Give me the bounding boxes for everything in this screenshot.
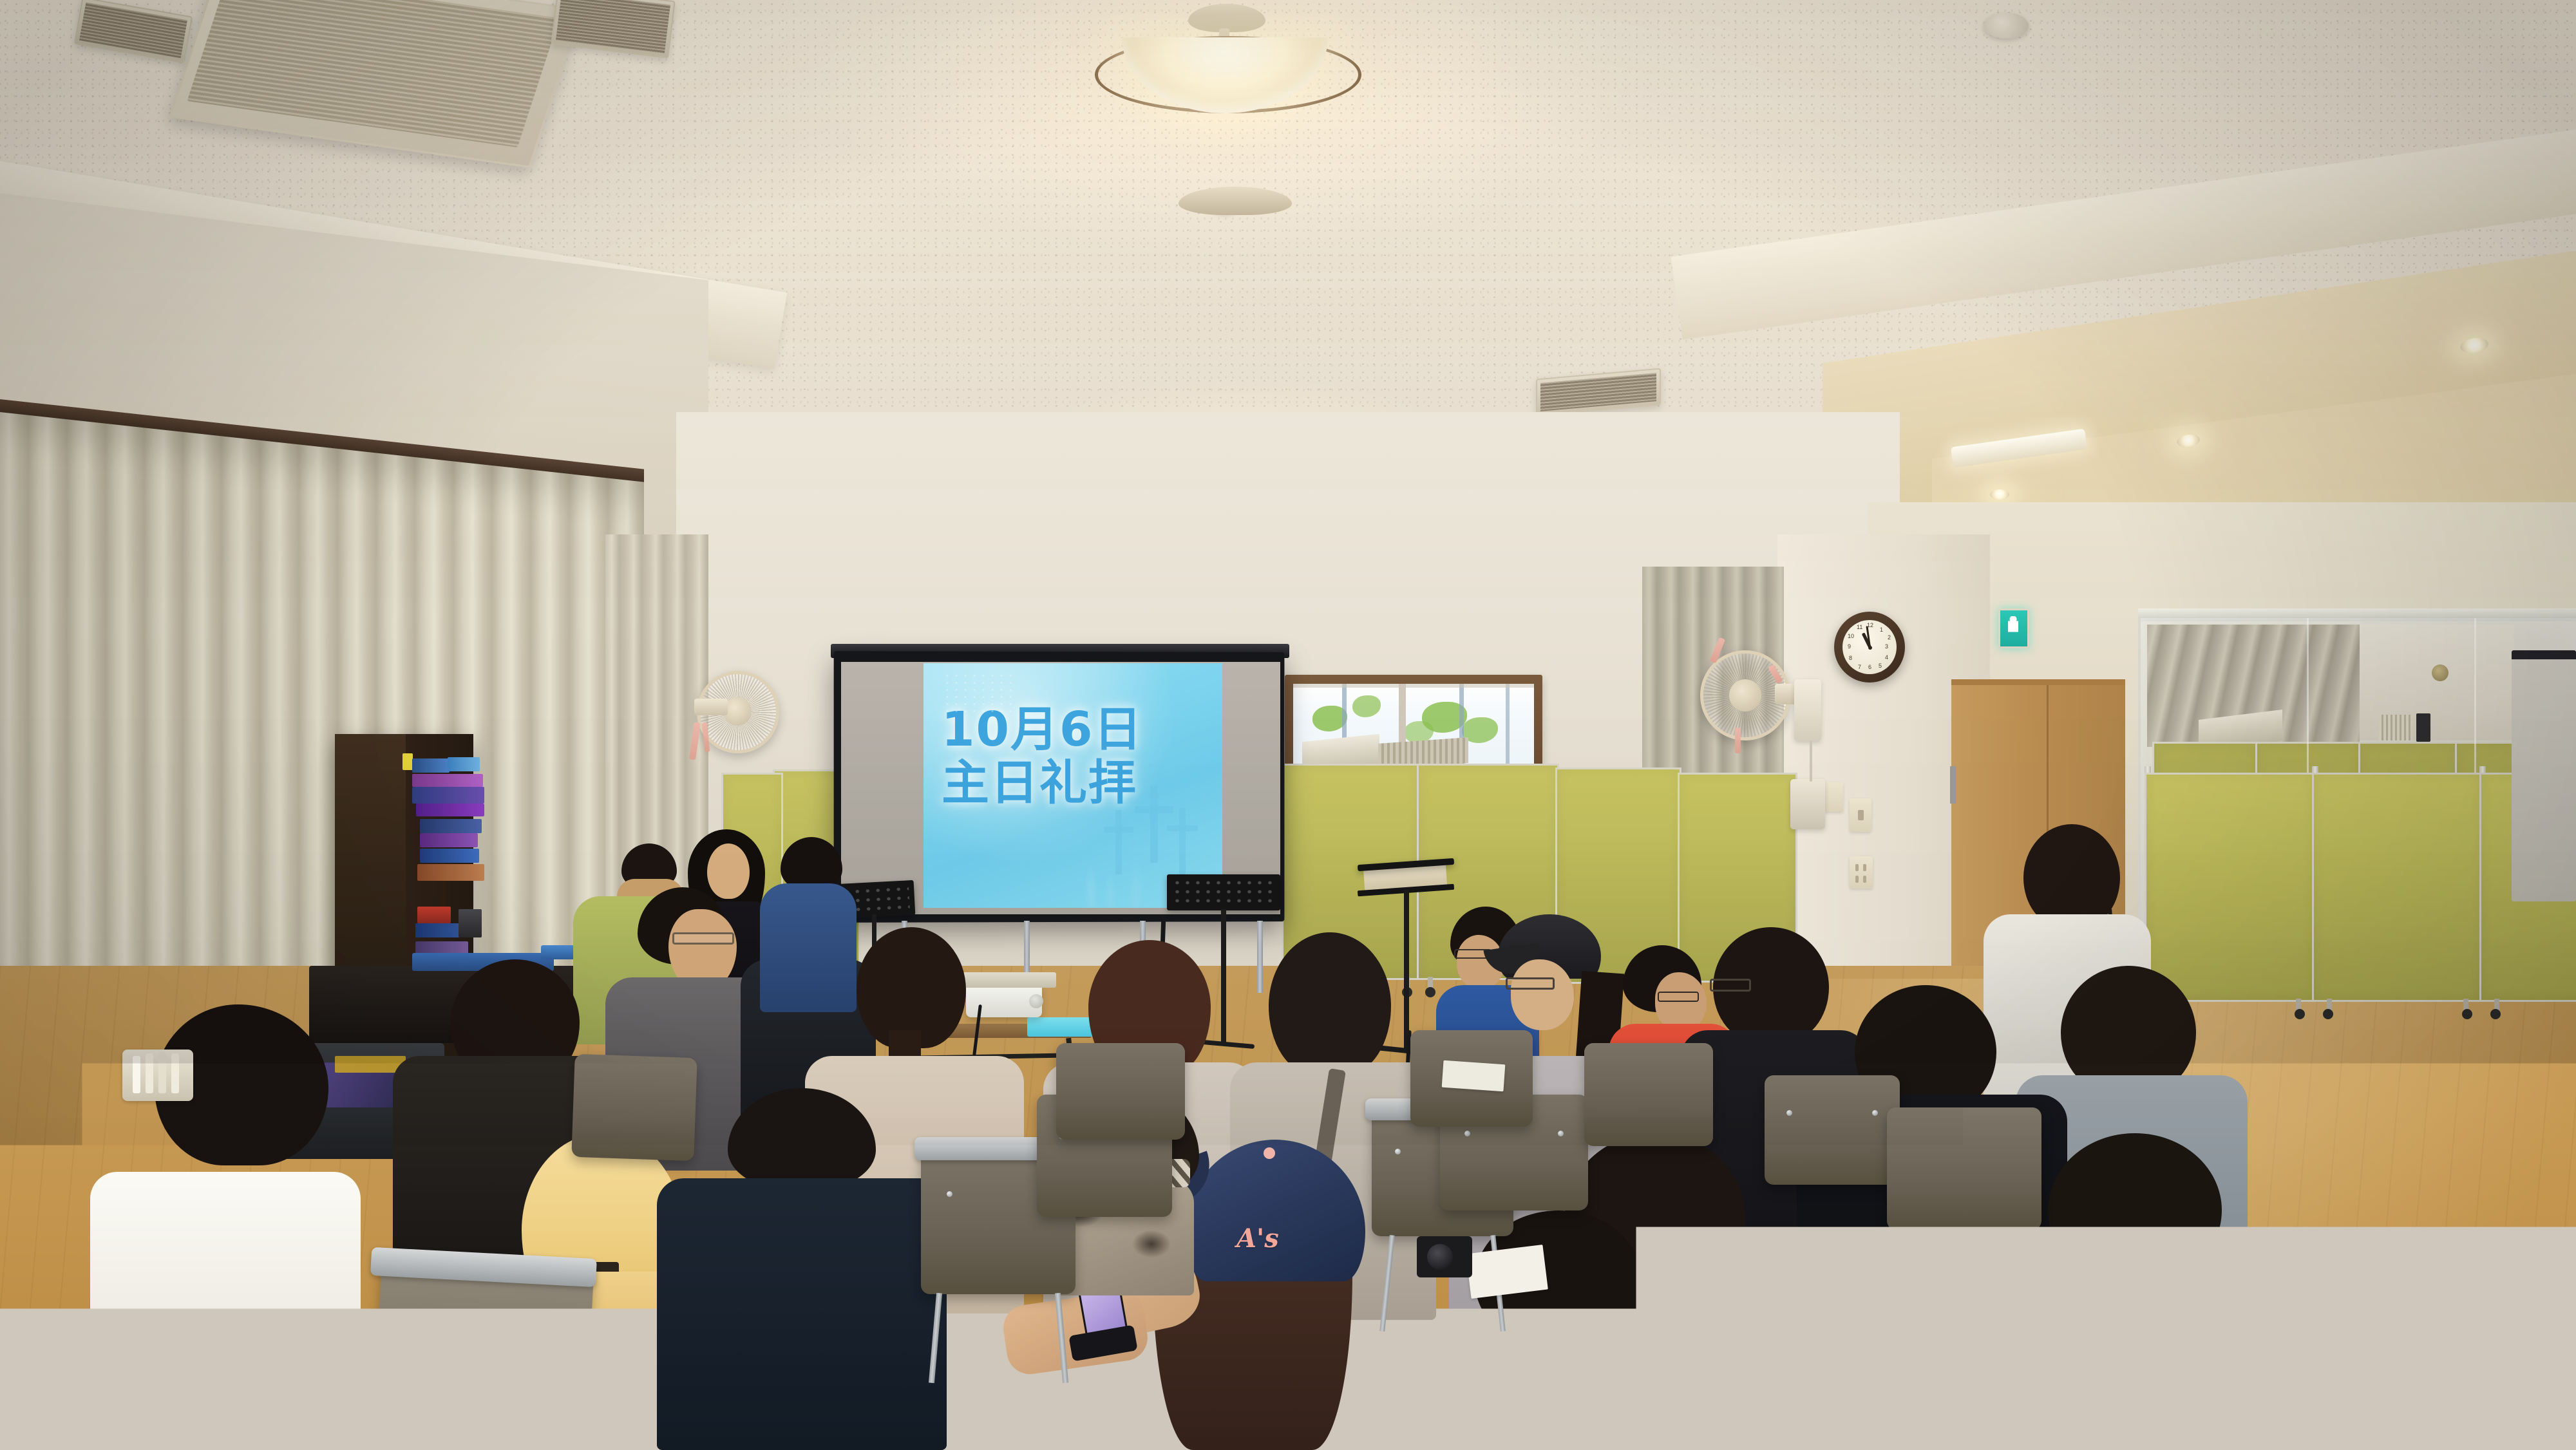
folding-chair-back[interactable] — [571, 1054, 697, 1162]
power-outlet-plate[interactable] — [1850, 856, 1873, 889]
shelf-label-tag — [402, 753, 413, 770]
chair-rail — [1642, 1320, 1887, 1350]
printed-handout[interactable] — [1466, 1245, 1548, 1299]
folding-chair-back[interactable] — [1765, 1075, 1900, 1185]
shelf-box — [420, 833, 478, 847]
fan-ribbon — [1735, 728, 1741, 753]
light-switch-plate[interactable] — [1850, 798, 1871, 832]
clock-center-pin — [1868, 646, 1872, 650]
music-stand-pole — [1404, 890, 1409, 1051]
person-hair — [2023, 824, 2120, 927]
person-hair — [2048, 1133, 2222, 1281]
secondary-projection-screen — [2512, 650, 2576, 901]
cap-button — [1264, 1147, 1275, 1159]
wall-telephone[interactable] — [1790, 779, 1825, 829]
printed-handout[interactable] — [1442, 1060, 1506, 1092]
partition-panel — [2145, 773, 2316, 1002]
shelf-box — [420, 819, 482, 833]
cap-logo-text: A's — [1236, 1223, 1279, 1254]
shelf-box — [412, 787, 484, 804]
room-photo-scene: 12 3 6 9 1 2 4 5 7 8 10 11 — [0, 0, 2576, 1450]
wall-intercom[interactable] — [1794, 679, 1821, 741]
person-torso-navy — [657, 1178, 947, 1450]
person-hair — [2273, 1313, 2428, 1450]
folding-chair-back[interactable] — [1056, 1043, 1185, 1140]
partition-panel — [2312, 773, 2483, 1002]
intercom-plate[interactable] — [1824, 782, 1843, 812]
shelf-box — [412, 774, 483, 787]
fan-arm — [694, 699, 728, 715]
person-face — [1655, 972, 1707, 1031]
shelf-box — [448, 757, 480, 771]
ceiling-boss — [1179, 187, 1292, 215]
shelf-box — [420, 849, 479, 863]
recessed-downlight — [1990, 489, 2009, 500]
camera[interactable] — [1417, 1236, 1472, 1277]
side-table — [953, 972, 1056, 988]
smoke-detector-icon — [1984, 13, 2029, 39]
folding-chair-back[interactable] — [1649, 1339, 1880, 1450]
emergency-exit-sign-icon — [1998, 608, 2029, 648]
shelf-basket — [459, 909, 482, 937]
person-torso-blue — [760, 883, 857, 1012]
door-hinge — [1950, 766, 1956, 804]
projector-lens — [1029, 994, 1043, 1008]
projected-slide: 10月6日 主日礼拝 — [923, 663, 1222, 908]
eyeglasses-icon — [672, 932, 734, 945]
music-stand-desk — [1167, 874, 1280, 910]
folding-chair-back[interactable] — [1887, 1107, 2041, 1230]
eyeglasses-icon — [1710, 979, 1751, 992]
person-hair-wavy — [1269, 932, 1391, 1074]
eyeglasses-icon — [1658, 992, 1699, 1002]
shelf-box — [417, 907, 451, 923]
person-torso-white-tee — [90, 1172, 361, 1450]
person-torso-white — [1938, 1262, 2338, 1450]
eyeglasses-icon — [1506, 977, 1555, 990]
shelf-box — [416, 804, 484, 816]
screen-leg — [1257, 921, 1263, 993]
shelf-box — [412, 758, 450, 773]
person-face — [707, 843, 750, 899]
folding-chair-back[interactable] — [1584, 1043, 1713, 1146]
shelf-box — [417, 864, 484, 881]
music-stand-pole — [1221, 909, 1226, 1044]
